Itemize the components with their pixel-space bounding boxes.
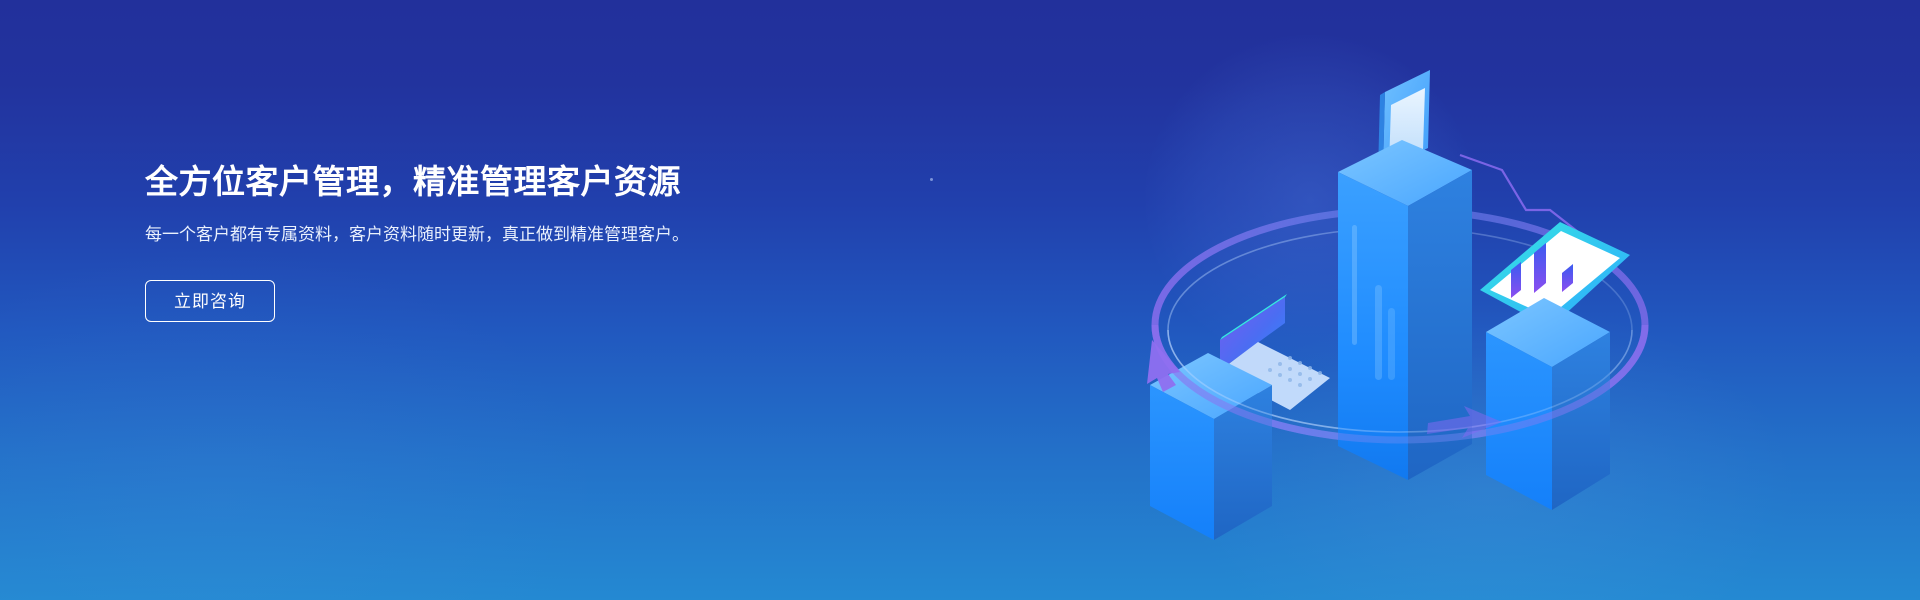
right-pedestal — [1480, 222, 1630, 510]
sparkle-dot — [930, 178, 933, 181]
consult-now-button[interactable]: 立即咨询 — [145, 280, 275, 322]
center-pedestal — [1338, 70, 1472, 480]
hero-illustration — [1130, 40, 1670, 560]
center-pedestal-face — [1338, 172, 1408, 480]
page-title: 全方位客户管理，精准管理客户资源 — [145, 160, 765, 204]
left-pedestal — [1150, 294, 1330, 540]
hero-banner: 全方位客户管理，精准管理客户资源 每一个客户都有专属资料，客户资料随时更新，真正… — [0, 0, 1920, 600]
hero-subtitle: 每一个客户都有专属资料，客户资料随时更新，真正做到精准管理客户。 — [145, 222, 735, 248]
hero-copy-block: 全方位客户管理，精准管理客户资源 每一个客户都有专属资料，客户资料随时更新，真正… — [145, 160, 765, 322]
